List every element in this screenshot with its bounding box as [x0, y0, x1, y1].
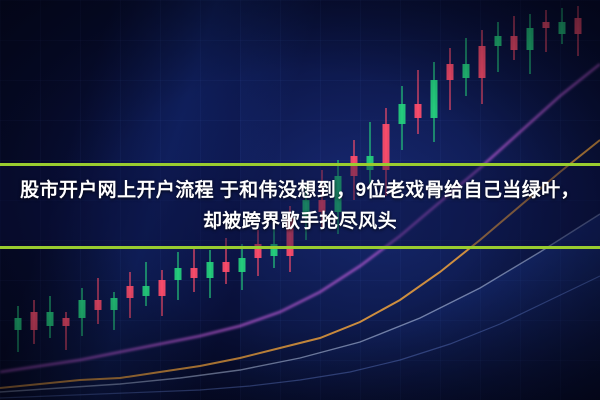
- candle-body: [207, 262, 214, 278]
- candle-body: [159, 280, 166, 296]
- candle-body: [543, 22, 550, 28]
- candle-body: [127, 286, 134, 298]
- candle-body: [191, 268, 198, 278]
- candle-body: [559, 22, 566, 34]
- headline-text: 股市开户网上开户流程 于和伟没想到，9位老戏骨给自己当绿叶，却被跨界歌手抢尽风头: [20, 175, 580, 237]
- candle-body: [47, 312, 54, 326]
- candle-body: [31, 312, 38, 330]
- candle-body: [79, 300, 86, 318]
- candle-body: [175, 268, 182, 280]
- candle-body: [239, 258, 246, 272]
- candle-body: [479, 46, 486, 78]
- candle-body: [495, 36, 502, 46]
- candle-body: [15, 318, 22, 330]
- headline-banner: 股市开户网上开户流程 于和伟没想到，9位老戏骨给自己当绿叶，却被跨界歌手抢尽风头: [0, 163, 600, 249]
- candle-body: [431, 80, 438, 118]
- candle-body: [511, 36, 518, 50]
- candle-body: [399, 104, 406, 124]
- candle-body: [415, 104, 422, 118]
- candle-body: [223, 262, 230, 272]
- candle-body: [143, 286, 150, 296]
- candle-body: [575, 18, 582, 34]
- candle-body: [463, 64, 470, 78]
- candle-body: [63, 318, 70, 326]
- image-canvas: 股市开户网上开户流程 于和伟没想到，9位老戏骨给自己当绿叶，却被跨界歌手抢尽风头: [0, 0, 600, 400]
- candle-body: [111, 298, 118, 310]
- candle-body: [447, 64, 454, 80]
- candle-body: [527, 28, 534, 50]
- candle-body: [95, 300, 102, 310]
